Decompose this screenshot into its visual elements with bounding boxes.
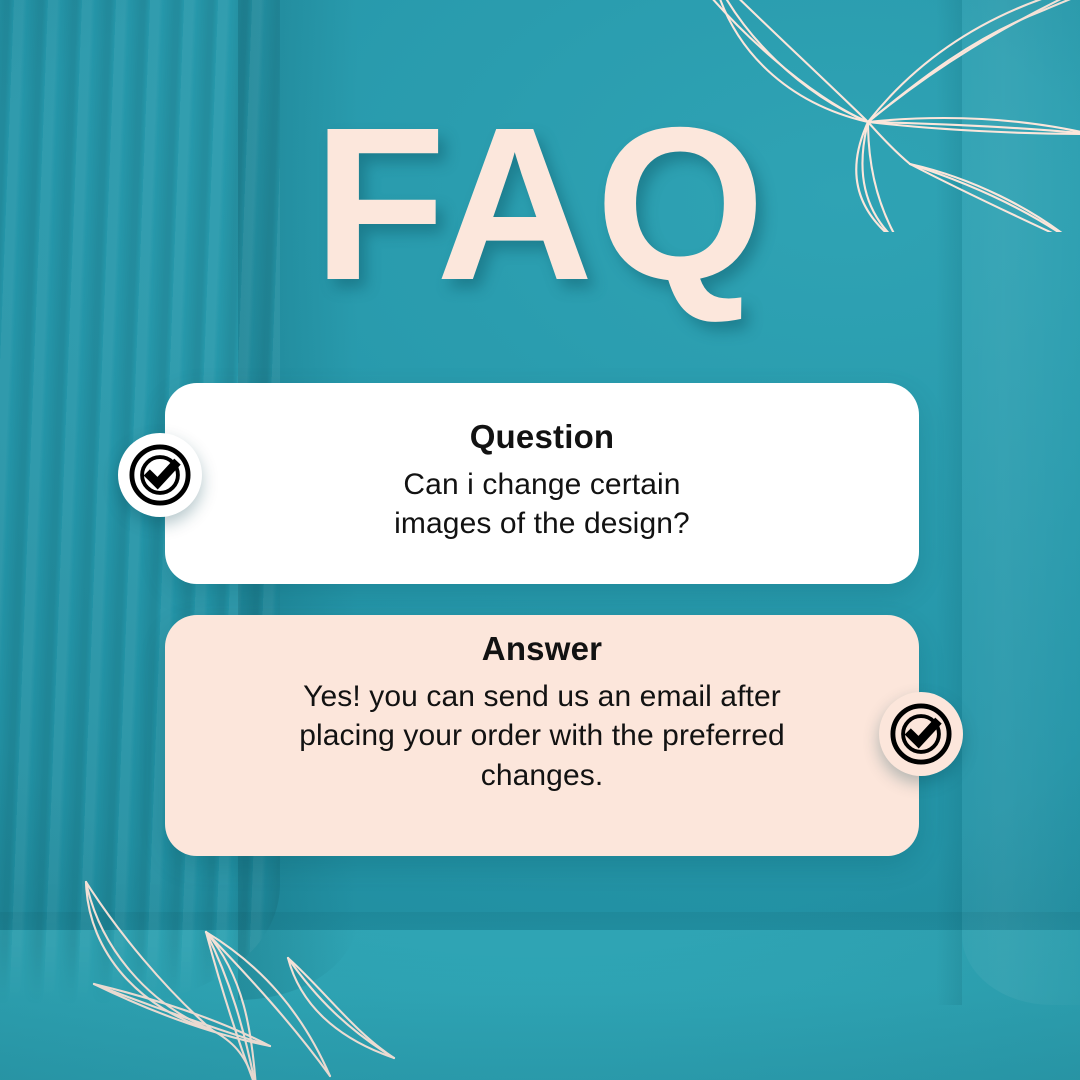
faq-graphic-canvas: FAQ Question Can i change certain images… xyxy=(0,0,1080,1080)
question-body: Can i change certain images of the desig… xyxy=(225,465,859,545)
answer-check-badge xyxy=(879,692,963,776)
leaf-branch-icon-bottom-left xyxy=(30,880,500,1080)
page-title: FAQ xyxy=(0,96,1080,314)
question-heading: Question xyxy=(225,417,859,457)
answer-heading: Answer xyxy=(209,629,875,669)
check-circle-icon xyxy=(890,703,952,765)
check-circle-icon xyxy=(129,444,191,506)
question-card: Question Can i change certain images of … xyxy=(165,383,919,584)
answer-body: Yes! you can send us an email after plac… xyxy=(209,677,875,797)
answer-card: Answer Yes! you can send us an email aft… xyxy=(165,615,919,856)
question-check-badge xyxy=(118,433,202,517)
